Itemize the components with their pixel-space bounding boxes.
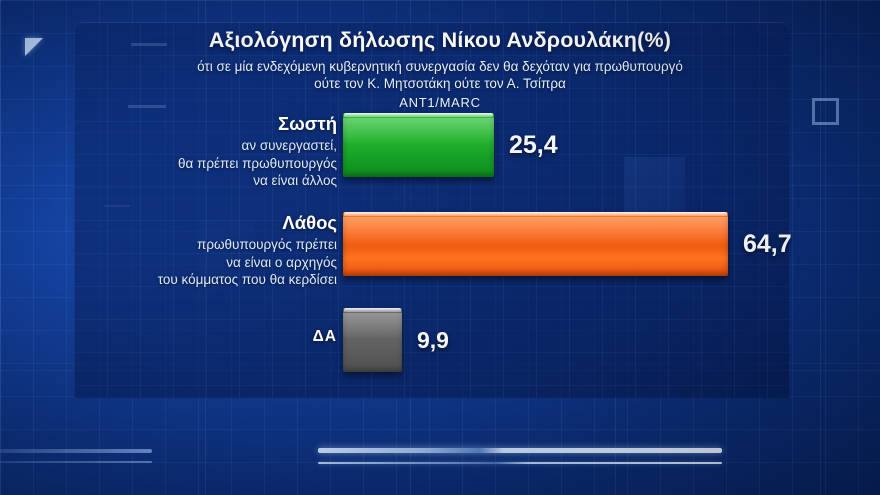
left-rail-secondary — [0, 461, 152, 463]
bar-grey — [343, 308, 402, 372]
broadcast-poll-graphic: Αξιολόγηση δήλωσης Νίκου Ανδρουλάκη(%) ό… — [0, 0, 880, 495]
bar-value: 64,7 — [743, 212, 792, 276]
bar-value: 9,9 — [417, 308, 449, 372]
bar-label: Λάθος — [47, 212, 337, 234]
bar-value: 25,4 — [509, 113, 558, 177]
bar-label-group: Σωστή αν συνεργαστεί,θα πρέπει πρωθυπουρ… — [47, 113, 337, 190]
bar-label-group: ΔΑ — [47, 328, 337, 346]
chart-title: Αξιολόγηση δήλωσης Νίκου Ανδρουλάκη(%) — [0, 28, 880, 53]
lower-third-rail-secondary — [318, 462, 722, 464]
chart-source: ANT1/MARC — [0, 95, 880, 110]
left-rail-primary — [0, 449, 152, 453]
bar-sublabel: πρωθυπουργός πρέπεινα είναι ο αρχηγόςτου… — [47, 236, 337, 289]
bar-sublabel: αν συνεργαστεί,θα πρέπει πρωθυπουργόςνα … — [47, 137, 337, 190]
chart-subtitle: ότι σε μία ενδεχόμενη κυβερνητική συνεργ… — [0, 58, 880, 92]
lower-third-rail-primary — [318, 448, 722, 453]
bar-label: ΔΑ — [47, 328, 337, 346]
bar-label: Σωστή — [47, 113, 337, 135]
bar-label-group: Λάθος πρωθυπουργός πρέπεινα είναι ο αρχη… — [47, 212, 337, 289]
bar-orange — [343, 212, 728, 276]
bar-green — [343, 113, 494, 177]
